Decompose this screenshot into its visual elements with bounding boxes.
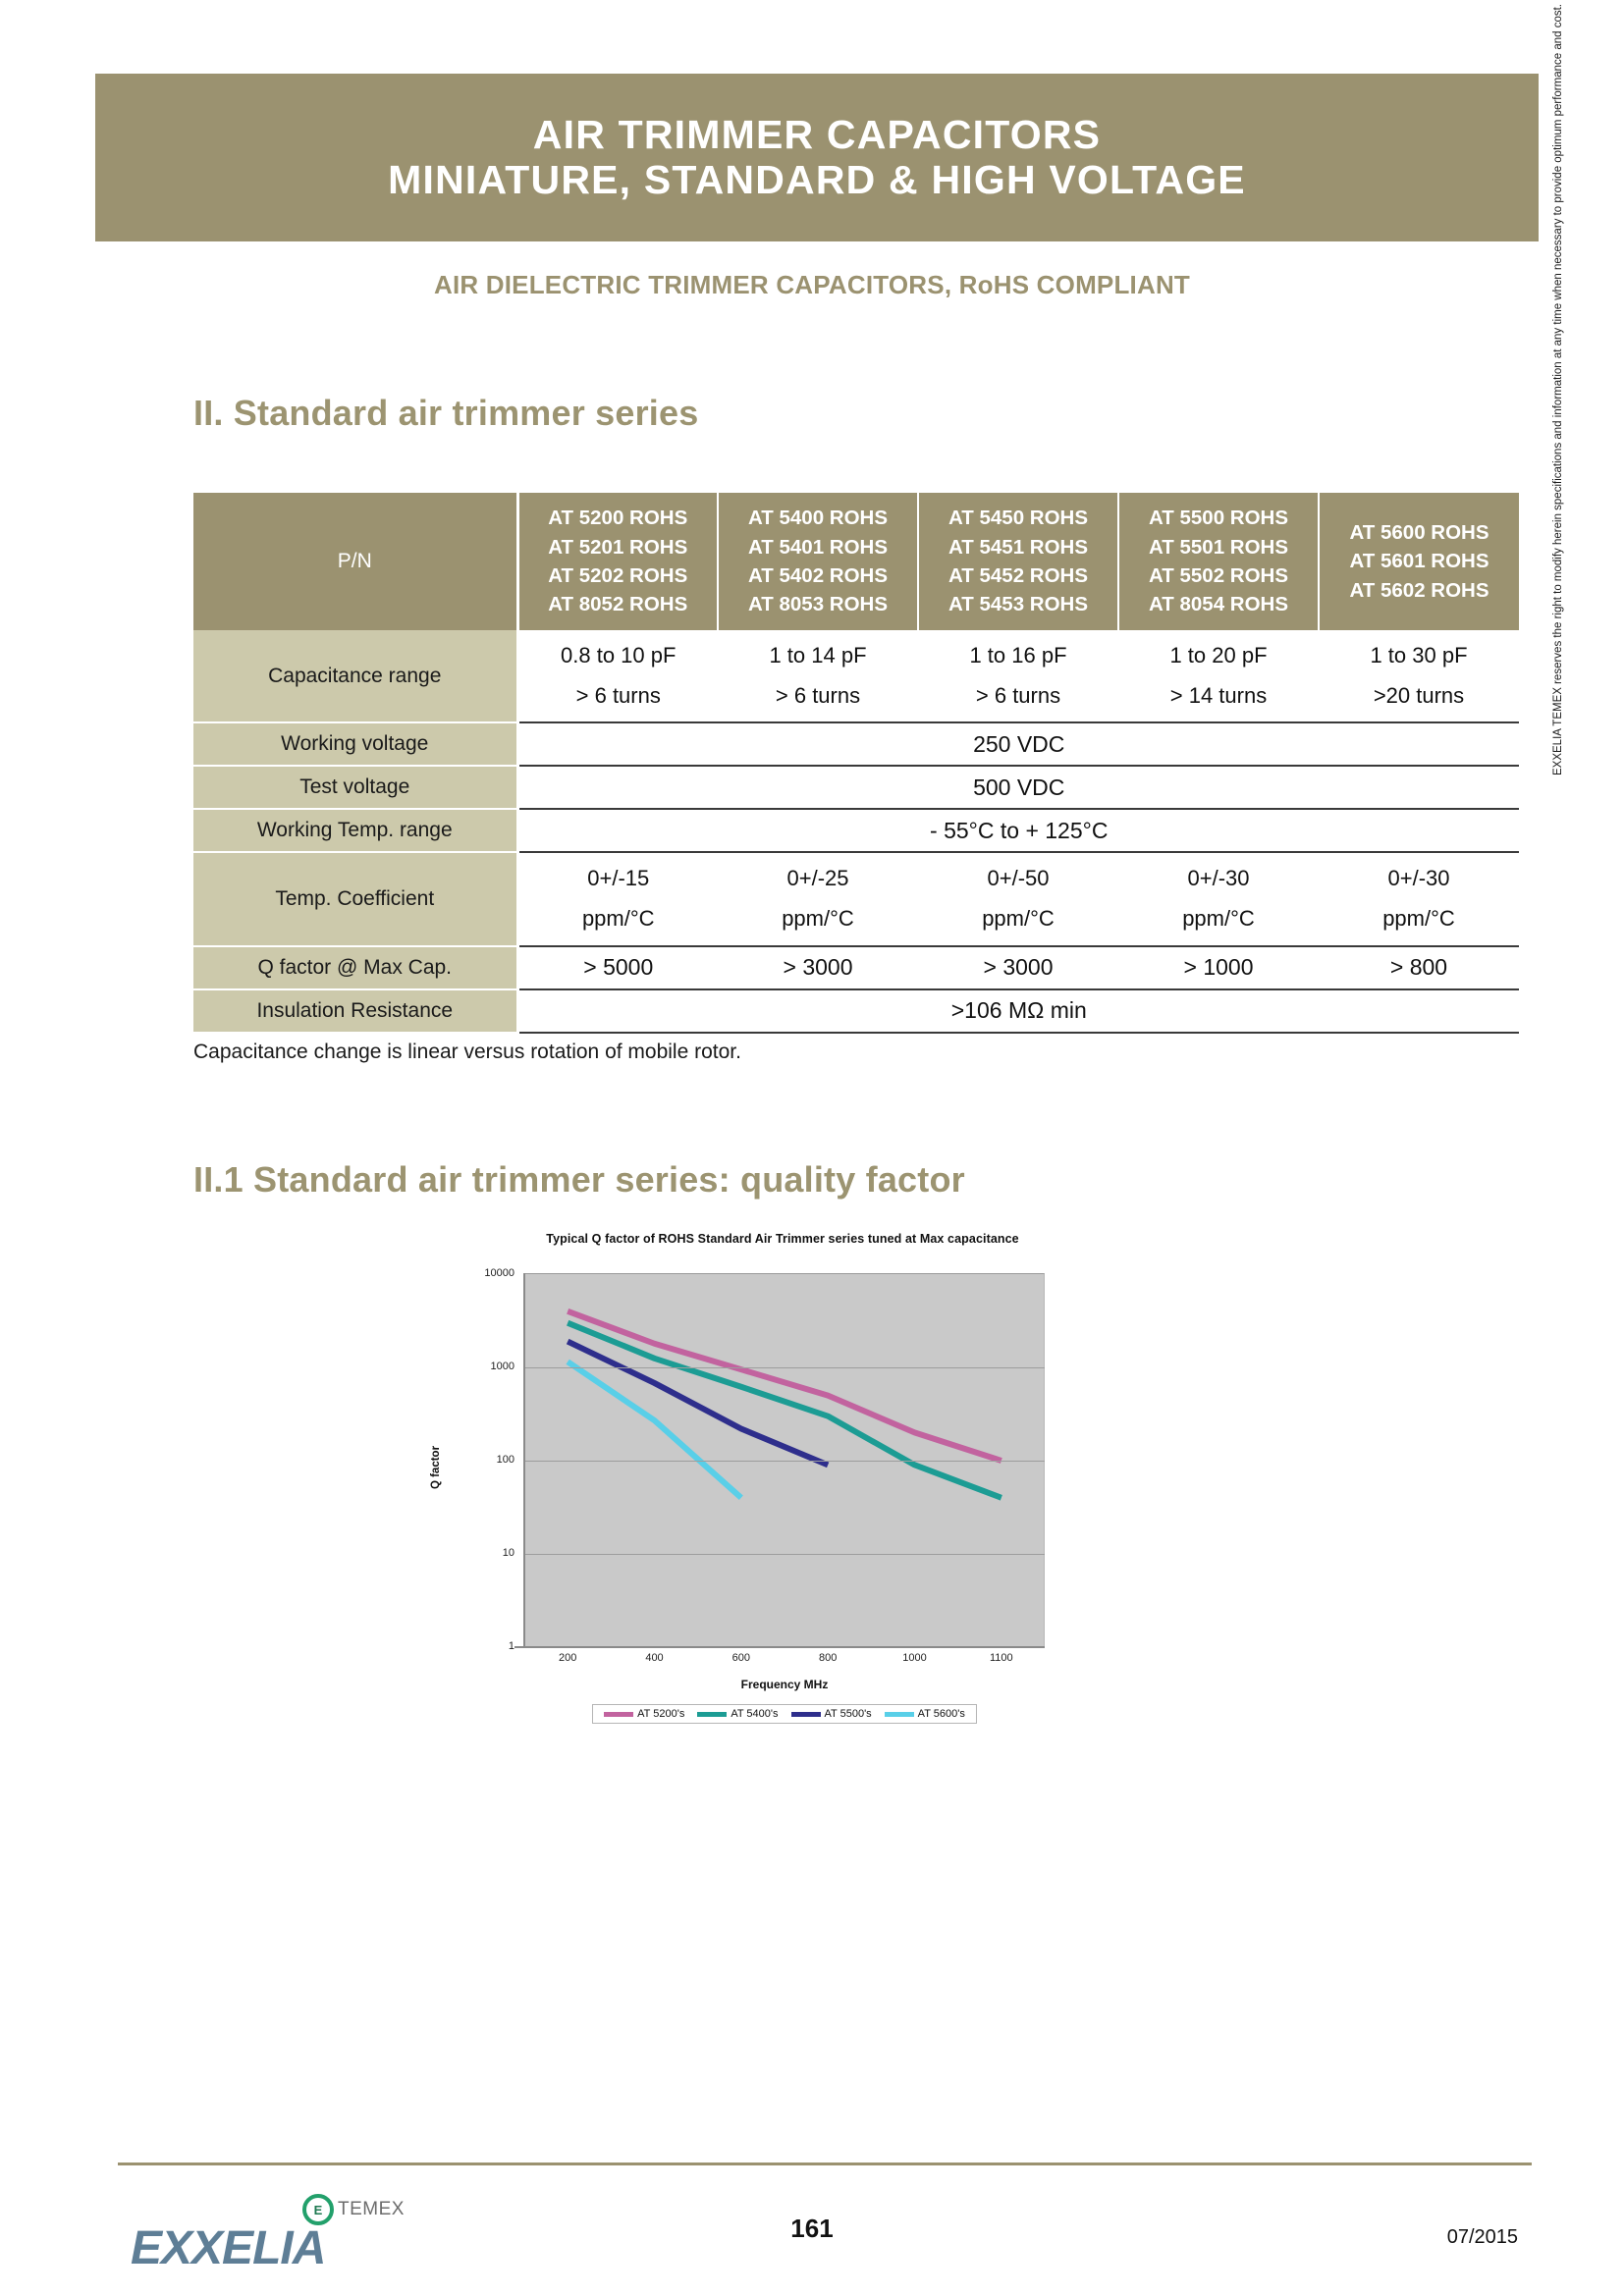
chart-plot-area xyxy=(524,1273,1045,1646)
cell-line: > 6 turns xyxy=(718,676,918,717)
cell-line: > 14 turns xyxy=(1118,676,1319,717)
table-row-working-voltage: Working voltage 250 VDC xyxy=(193,722,1519,766)
cell-line: 1 to 20 pF xyxy=(1118,636,1319,676)
specifications-table: P/N AT 5200 ROHS AT 5201 ROHS AT 5202 RO… xyxy=(193,493,1519,1034)
cell-line: 0+/-30 xyxy=(1319,859,1519,899)
q-factor-chart: Typical Q factor of ROHS Standard Air Tr… xyxy=(395,1232,1170,1801)
x-axis-line xyxy=(514,1646,1045,1648)
part-number: AT 5400 ROHS xyxy=(719,504,917,532)
legend-swatch xyxy=(604,1712,633,1717)
part-number: AT 5452 ROHS xyxy=(919,561,1117,590)
part-number: AT 8053 ROHS xyxy=(719,590,917,618)
document-date: 07/2015 xyxy=(1447,2226,1518,2249)
part-number: AT 5453 ROHS xyxy=(919,590,1117,618)
x-axis-tick-label: 600 xyxy=(732,1652,750,1664)
page-title-line-1: AIR TRIMMER CAPACITORS xyxy=(533,113,1101,158)
page-title-line-2: MINIATURE, STANDARD & HIGH VOLTAGE xyxy=(388,158,1246,203)
part-number: AT 5402 ROHS xyxy=(719,561,917,590)
cell-line: 0+/-50 xyxy=(918,859,1118,899)
section-heading-quality-factor: II.1 Standard air trimmer series: qualit… xyxy=(193,1159,965,1201)
legend-swatch xyxy=(697,1712,727,1717)
side-disclaimer-text: EXXELIA TEMEX reserves the right to modi… xyxy=(1552,69,1564,775)
legend-item: AT 5500's xyxy=(791,1708,872,1720)
y-axis-label: Q factor xyxy=(430,1446,442,1489)
cell-line: 0.8 to 10 pF xyxy=(519,636,719,676)
page-subtitle: AIR DIELECTRIC TRIMMER CAPACITORS, RoHS … xyxy=(0,270,1624,300)
chart-title: Typical Q factor of ROHS Standard Air Tr… xyxy=(395,1232,1170,1246)
cell-value: 0+/-30 ppm/°C xyxy=(1319,852,1519,945)
cell-value-spanned: 500 VDC xyxy=(517,766,1519,809)
header-cell-series-4: AT 5600 ROHS AT 5601 ROHS AT 5602 ROHS xyxy=(1319,493,1519,630)
legend-swatch xyxy=(885,1712,914,1717)
header-cell-series-3: AT 5500 ROHS AT 5501 ROHS AT 5502 ROHS A… xyxy=(1118,493,1319,630)
part-number: AT 5600 ROHS xyxy=(1320,518,1519,547)
cell-line: 0+/-30 xyxy=(1118,859,1319,899)
table-header-row: P/N AT 5200 ROHS AT 5201 ROHS AT 5202 RO… xyxy=(193,493,1519,630)
datasheet-page: AIR TRIMMER CAPACITORS MINIATURE, STANDA… xyxy=(0,0,1624,2296)
cell-value: 0+/-30 ppm/°C xyxy=(1118,852,1319,945)
table-row-working-temp-range: Working Temp. range - 55°C to + 125°C xyxy=(193,809,1519,852)
cell-line: ppm/°C xyxy=(918,899,1118,939)
cell-value: > 5000 xyxy=(517,946,718,989)
table-footnote: Capacitance change is linear versus rota… xyxy=(193,1041,741,1064)
section-heading-standard-series: II. Standard air trimmer series xyxy=(193,393,698,434)
part-number: AT 5502 ROHS xyxy=(1119,561,1318,590)
row-label: Working Temp. range xyxy=(193,809,517,852)
header-cell-series-2: AT 5450 ROHS AT 5451 ROHS AT 5452 ROHS A… xyxy=(918,493,1118,630)
legend-label: AT 5400's xyxy=(731,1708,778,1720)
part-number: AT 5500 ROHS xyxy=(1119,504,1318,532)
y-axis-tick-label: 10000 xyxy=(484,1267,514,1279)
cell-value: 1 to 30 pF >20 turns xyxy=(1319,630,1519,722)
chart-series-line xyxy=(568,1311,1001,1461)
part-number: AT 5200 ROHS xyxy=(519,504,718,532)
cell-value: 0+/-15 ppm/°C xyxy=(517,852,718,945)
cell-line: 1 to 14 pF xyxy=(718,636,918,676)
cell-value: 0+/-25 ppm/°C xyxy=(718,852,918,945)
part-number: AT 5451 ROHS xyxy=(919,533,1117,561)
part-number: AT 5450 ROHS xyxy=(919,504,1117,532)
cell-value: 1 to 14 pF > 6 turns xyxy=(718,630,918,722)
part-number: AT 5601 ROHS xyxy=(1320,547,1519,575)
cell-line: ppm/°C xyxy=(1319,899,1519,939)
part-number: AT 5202 ROHS xyxy=(519,561,718,590)
legend-label: AT 5600's xyxy=(918,1708,965,1720)
table-row-capacitance-range: Capacitance range 0.8 to 10 pF > 6 turns… xyxy=(193,630,1519,722)
legend-swatch xyxy=(791,1712,821,1717)
footer-divider xyxy=(118,2163,1532,2165)
page-number: 161 xyxy=(0,2214,1624,2244)
x-axis-tick-label: 200 xyxy=(559,1652,576,1664)
cell-line: > 6 turns xyxy=(519,676,719,717)
x-axis-tick-label: 1000 xyxy=(902,1652,926,1664)
row-label: Test voltage xyxy=(193,766,517,809)
chart-gridline xyxy=(524,1554,1045,1555)
cell-value-spanned: - 55°C to + 125°C xyxy=(517,809,1519,852)
y-axis-line xyxy=(523,1273,525,1647)
legend-item: AT 5400's xyxy=(697,1708,778,1720)
cell-line: ppm/°C xyxy=(1118,899,1319,939)
legend-label: AT 5500's xyxy=(825,1708,872,1720)
part-number: AT 8052 ROHS xyxy=(519,590,718,618)
legend-item: AT 5600's xyxy=(885,1708,965,1720)
cell-line: 1 to 16 pF xyxy=(918,636,1118,676)
cell-value: 0.8 to 10 pF > 6 turns xyxy=(517,630,718,722)
x-axis-label: Frequency MHz xyxy=(524,1678,1045,1691)
part-number: AT 5401 ROHS xyxy=(719,533,917,561)
x-axis-tick-label: 800 xyxy=(819,1652,837,1664)
table-row-temp-coefficient: Temp. Coefficient 0+/-15 ppm/°C 0+/-25 p… xyxy=(193,852,1519,945)
row-label: Working voltage xyxy=(193,722,517,766)
cell-line: >20 turns xyxy=(1319,676,1519,717)
y-axis-tick-label: 1000 xyxy=(491,1361,514,1372)
cell-value: > 3000 xyxy=(718,946,918,989)
chart-legend: AT 5200'sAT 5400'sAT 5500'sAT 5600's xyxy=(524,1704,1045,1724)
legend-item: AT 5200's xyxy=(604,1708,684,1720)
cell-value: 1 to 20 pF > 14 turns xyxy=(1118,630,1319,722)
table-row-q-factor: Q factor @ Max Cap. > 5000 > 3000 > 3000… xyxy=(193,946,1519,989)
cell-value: 0+/-50 ppm/°C xyxy=(918,852,1118,945)
y-axis-tick-label: 100 xyxy=(497,1454,514,1466)
cell-value: > 800 xyxy=(1319,946,1519,989)
page-title-band: AIR TRIMMER CAPACITORS MINIATURE, STANDA… xyxy=(95,74,1539,241)
table-row-insulation-resistance: Insulation Resistance >106 MΩ min xyxy=(193,989,1519,1033)
part-number: AT 8054 ROHS xyxy=(1119,590,1318,618)
x-axis-tick-label: 1100 xyxy=(990,1652,1013,1664)
row-label: Temp. Coefficient xyxy=(193,852,517,945)
y-axis-tick-label: 1 xyxy=(509,1640,514,1652)
table-row-test-voltage: Test voltage 500 VDC xyxy=(193,766,1519,809)
cell-value: > 1000 xyxy=(1118,946,1319,989)
header-cell-series-1: AT 5400 ROHS AT 5401 ROHS AT 5402 ROHS A… xyxy=(718,493,918,630)
header-cell-series-0: AT 5200 ROHS AT 5201 ROHS AT 5202 ROHS A… xyxy=(517,493,718,630)
cell-line: ppm/°C xyxy=(519,899,719,939)
part-number: AT 5201 ROHS xyxy=(519,533,718,561)
chart-series-line xyxy=(568,1323,1001,1498)
legend-box: AT 5200'sAT 5400'sAT 5500'sAT 5600's xyxy=(592,1704,977,1724)
chart-body: 110100100010000 20040060080010001100 Q f… xyxy=(395,1255,1170,1727)
row-label: Capacitance range xyxy=(193,630,517,722)
cell-line: ppm/°C xyxy=(718,899,918,939)
header-cell-pn: P/N xyxy=(193,493,517,630)
cell-line: > 6 turns xyxy=(918,676,1118,717)
chart-gridline xyxy=(524,1461,1045,1462)
chart-gridline xyxy=(524,1367,1045,1368)
row-label: Insulation Resistance xyxy=(193,989,517,1033)
cell-value-spanned: >106 MΩ min xyxy=(517,989,1519,1033)
cell-line: 1 to 30 pF xyxy=(1319,636,1519,676)
y-axis-tick-label: 10 xyxy=(503,1547,514,1559)
legend-label: AT 5200's xyxy=(637,1708,684,1720)
cell-value-spanned: 250 VDC xyxy=(517,722,1519,766)
part-number: AT 5602 ROHS xyxy=(1320,576,1519,605)
cell-value: 1 to 16 pF > 6 turns xyxy=(918,630,1118,722)
cell-line: 0+/-25 xyxy=(718,859,918,899)
row-label: Q factor @ Max Cap. xyxy=(193,946,517,989)
cell-value: > 3000 xyxy=(918,946,1118,989)
x-axis-tick-label: 400 xyxy=(645,1652,663,1664)
cell-line: 0+/-15 xyxy=(519,859,719,899)
part-number: AT 5501 ROHS xyxy=(1119,533,1318,561)
